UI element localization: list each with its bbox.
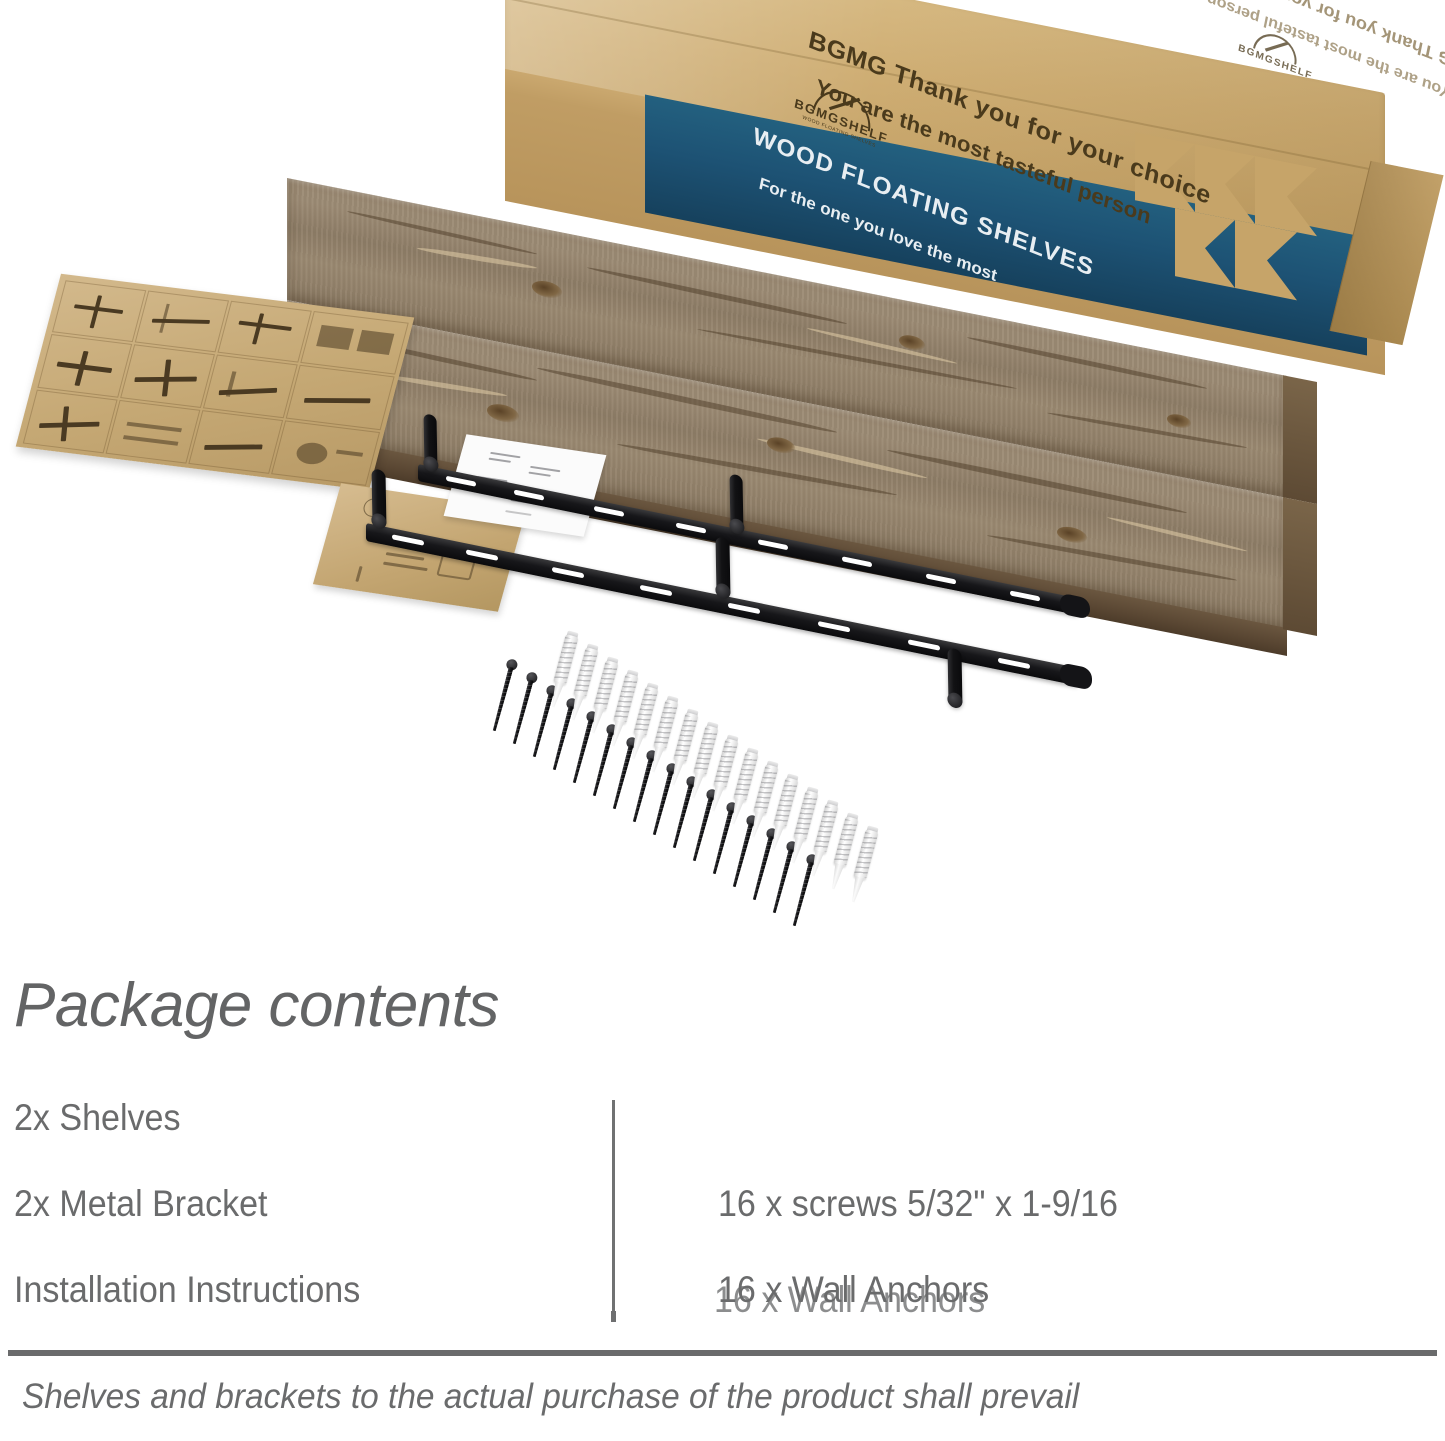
package-contents-section: Package contents 2x Shelves 2x Metal Bra… (0, 945, 1445, 1441)
product-photo: BGMG Thank you for your choice You are t… (0, 0, 1445, 945)
instruction-panel (286, 365, 395, 430)
wood-grain (1107, 515, 1247, 553)
instruction-panel (203, 355, 298, 419)
bracket-support-rod (371, 468, 386, 529)
bracket-support-rod (424, 413, 438, 472)
shelf-end-grain (1283, 497, 1317, 636)
list-item-metal-bracket: 2x Metal Bracket (14, 1183, 268, 1225)
card-sketch (530, 466, 561, 472)
instruction-panel (37, 334, 132, 398)
instruction-panel (106, 400, 201, 464)
card-sketch (490, 452, 521, 458)
instruction-panel (120, 344, 215, 408)
instruction-panel (135, 291, 229, 353)
wood-knot (1057, 524, 1087, 545)
wood-grain (1047, 411, 1247, 450)
wood-knot (1167, 412, 1191, 430)
column-divider (612, 1100, 615, 1322)
list-item-shelves: 2x Shelves (14, 1097, 181, 1139)
list-item-installation-instructions: Installation Instructions (14, 1269, 360, 1311)
bracket-support-rod (729, 473, 743, 534)
instruction-panel (188, 410, 283, 474)
page-title: Package contents (14, 970, 499, 1041)
bracket-end-tab (1060, 662, 1092, 691)
wood-knot (532, 279, 562, 301)
wood-knot (487, 402, 519, 425)
wood-grain (807, 326, 957, 365)
card-sketch (488, 458, 511, 463)
instruction-panel (23, 390, 118, 454)
wood-knot (767, 435, 795, 456)
footnote-text: Shelves and brackets to the actual purch… (22, 1377, 1079, 1417)
wood-grain (617, 442, 897, 498)
shelf-end-grain (1283, 375, 1317, 504)
column-divider-tick (611, 1311, 616, 1322)
list-item-screws: 16 x screws 5/32" x 1-9/16 (718, 1183, 1118, 1225)
bracket-support-rod (715, 536, 730, 599)
section-divider (8, 1350, 1437, 1356)
instruction-panel (218, 301, 312, 363)
instruction-panel (300, 311, 408, 375)
list-item-wall-anchors: 16 x Wall Anchors (718, 1269, 989, 1311)
card-sketch (528, 472, 551, 477)
wall-anchor-row (566, 634, 986, 884)
instruction-panel (52, 280, 146, 342)
product-package-contents-image: BGMG Thank you for your choice You are t… (0, 0, 1445, 1441)
